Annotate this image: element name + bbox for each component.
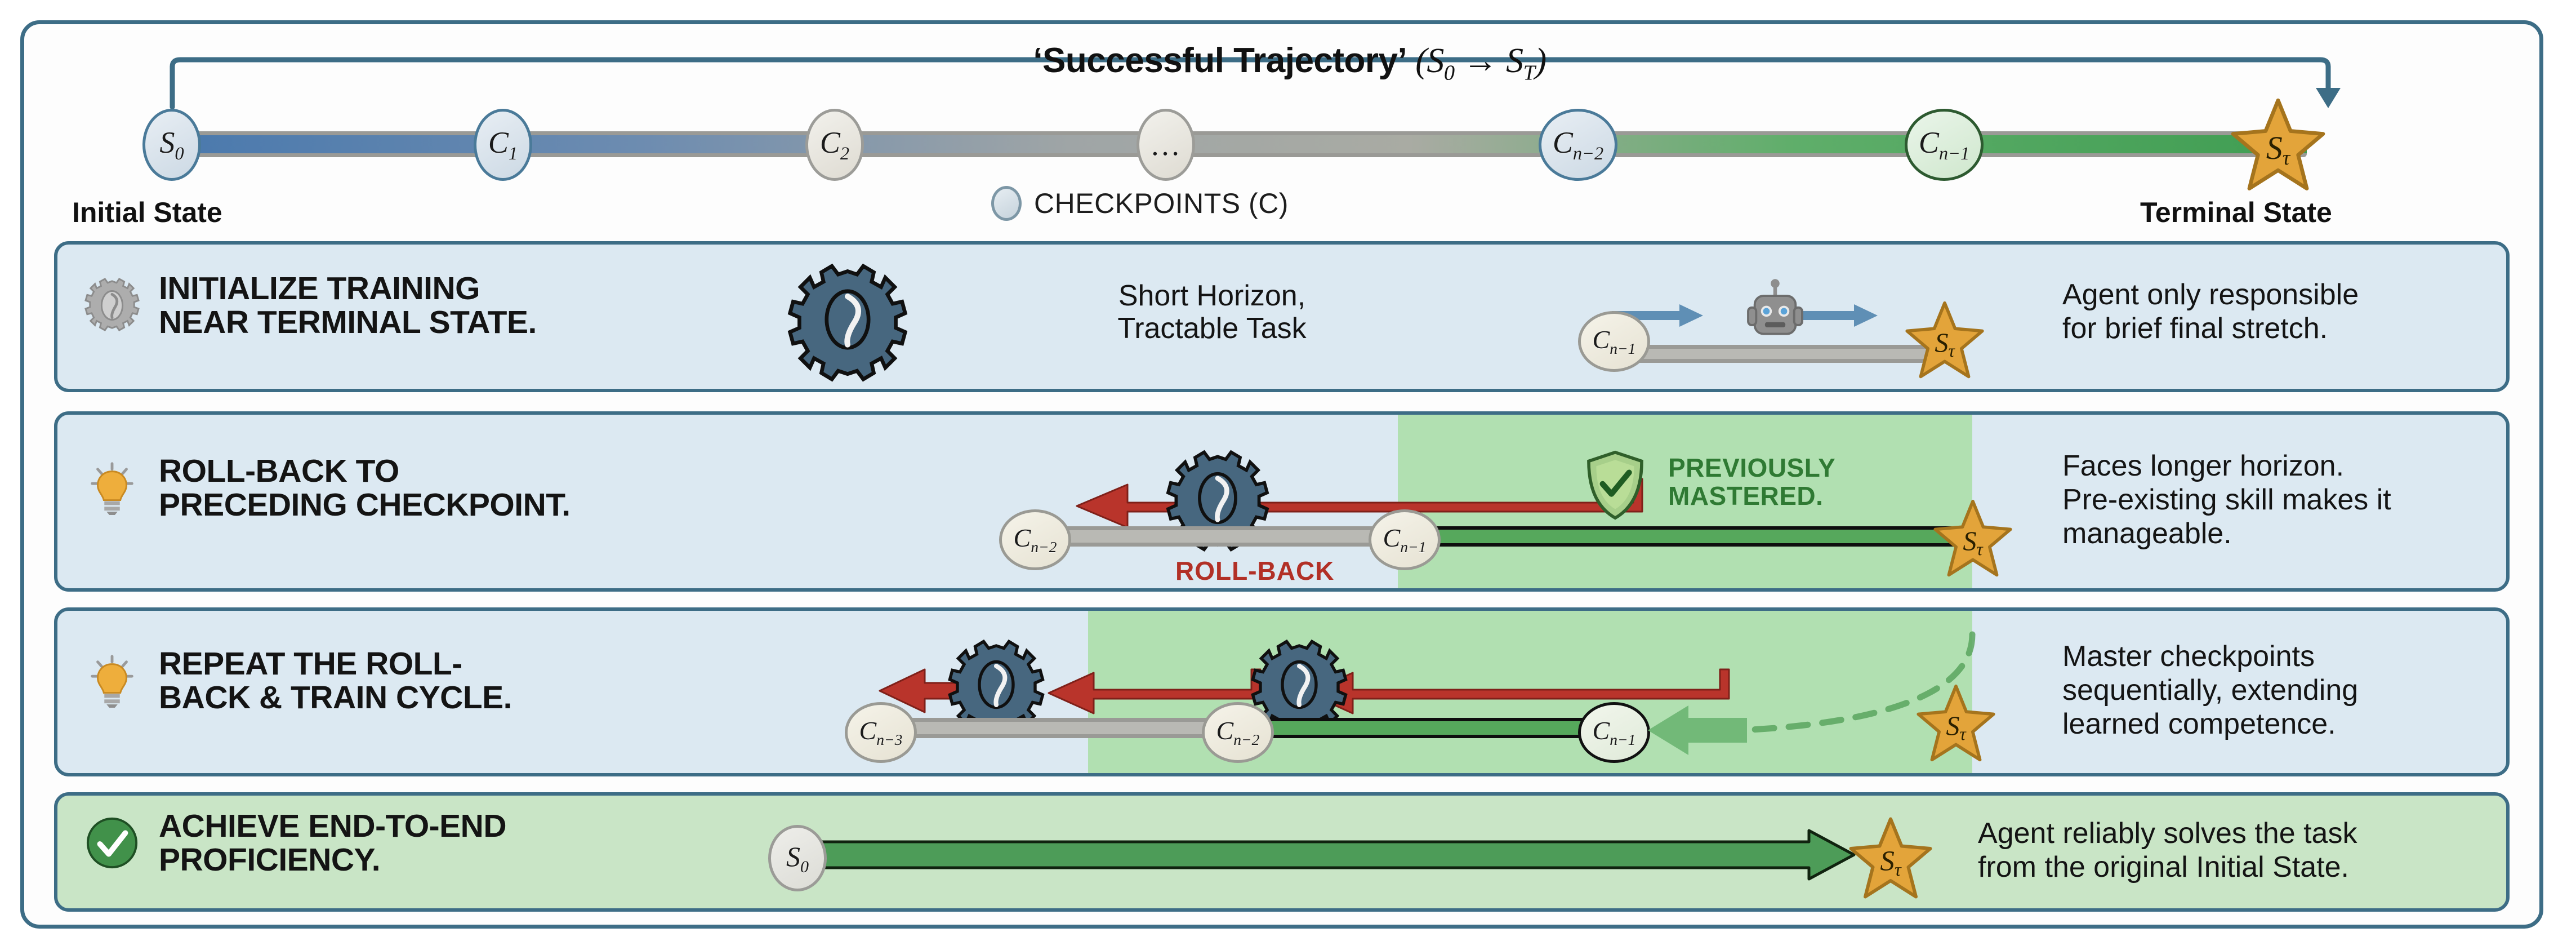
node-ellipsis: … <box>1137 109 1195 181</box>
arrow-left-icon <box>1648 705 1747 755</box>
gear-icon-large-3b <box>1257 642 1342 727</box>
dashed-curve-icon <box>1634 628 2062 769</box>
star-icon-step-3: Sτ <box>1916 683 1996 765</box>
step-1-middle-caption: Short Horizon, Tractable Task <box>998 279 1426 345</box>
step-3-node-cn3: Cn−3 <box>845 702 917 763</box>
checkpoints-legend-label: CHECKPOINTS (C) <box>1034 187 1289 220</box>
previously-mastered-label: PREVIOUSLY MASTERED. <box>1668 454 1835 510</box>
step-row-4[interactable]: ACHIEVE END-TO-END PROFICIENCY. S0 Sτ Ag… <box>54 792 2510 912</box>
node-c1: C1 <box>474 109 532 181</box>
step-1-right-text: Agent only responsible for brief final s… <box>2062 278 2510 346</box>
step-row-2[interactable]: ROLL-BACK TO PRECEDING CHECKPOINT. <box>54 411 2510 592</box>
step-4-arrow-right-icon <box>795 829 1888 891</box>
star-icon-step-2: Sτ <box>1933 498 2013 580</box>
step-2-header: ROLL-BACK TO PRECEDING CHECKPOINT. <box>84 454 571 522</box>
step-3-heading: REPEAT THE ROLL- BACK & TRAIN CYCLE. <box>159 647 512 715</box>
gear-icon-large-1 <box>795 267 900 372</box>
arrow-left-icon-rollback <box>1004 471 1679 533</box>
lightbulb-icon <box>84 460 140 516</box>
step-3-right-text: Master checkpoints sequentially, extendi… <box>2062 640 2510 741</box>
step-2-node-cn1: Cn−1 <box>1369 509 1441 570</box>
step-4-header: ACHIEVE END-TO-END PROFICIENCY. <box>84 809 506 877</box>
gear-icon-large-3a <box>954 642 1039 727</box>
trajectory-overview: ‘Successful Trajectory’ (S0 → ST) S0 <box>0 0 2576 237</box>
check-circle-icon <box>84 815 140 871</box>
checkpoints-legend: CHECKPOINTS (C) <box>991 186 1289 221</box>
step-3-header: REPEAT THE ROLL- BACK & TRAIN CYCLE. <box>84 647 512 715</box>
step-2-rail-green <box>1409 526 1972 549</box>
step-4-heading: ACHIEVE END-TO-END PROFICIENCY. <box>159 809 506 877</box>
node-cn2: Cn−2 <box>1539 109 1617 181</box>
initial-state-label: Initial State <box>72 196 222 229</box>
node-s0: S0 <box>142 109 201 181</box>
node-cn1: Cn−1 <box>1905 109 1984 181</box>
rollback-label: ROLL-BACK <box>1175 556 1334 586</box>
step-4-right-text: Agent reliably solves the task from the … <box>1978 817 2510 885</box>
step-1-node-cn1: Cn−1 <box>1578 311 1650 372</box>
gear-icon <box>84 278 140 333</box>
step-4-node-s0: S0 <box>768 825 827 891</box>
lightbulb-icon <box>84 653 140 708</box>
step-row-1[interactable]: INITIALIZE TRAINING NEAR TERMINAL STATE.… <box>54 241 2510 392</box>
star-icon-terminal: Sτ <box>2230 97 2326 194</box>
step-3-node-cn2: Cn−2 <box>1202 702 1274 763</box>
robot-icon <box>1739 278 1812 357</box>
star-icon-step-1: Sτ <box>1905 300 1985 381</box>
step-2-heading: ROLL-BACK TO PRECEDING CHECKPOINT. <box>159 454 571 522</box>
checkpoint-dot-icon <box>991 186 1022 221</box>
star-icon-step-4: Sτ <box>1848 816 1933 902</box>
terminal-state-label: Terminal State <box>2140 196 2332 229</box>
diagram-canvas: ‘Successful Trajectory’ (S0 → ST) S0 <box>0 0 2576 950</box>
step-3-rail-grey <box>863 718 1251 740</box>
node-c2: C2 <box>805 109 864 181</box>
step-1-heading: INITIALIZE TRAINING NEAR TERMINAL STATE. <box>159 272 537 340</box>
step-2-right-text: Faces longer horizon. Pre-existing skill… <box>2062 450 2510 551</box>
trajectory-title-text: ‘Successful Trajectory’ <box>1033 41 1407 80</box>
step-3-rail-green <box>1229 718 1623 740</box>
shield-check-icon <box>1584 450 1647 521</box>
step-row-3[interactable]: REPEAT THE ROLL- BACK & TRAIN CYCLE. <box>54 607 2510 776</box>
step-1-header: INITIALIZE TRAINING NEAR TERMINAL STATE. <box>84 272 537 340</box>
trajectory-title: ‘Successful Trajectory’ (S0 → ST) <box>862 41 1718 85</box>
step-2-node-cn2: Cn−2 <box>999 509 1071 570</box>
